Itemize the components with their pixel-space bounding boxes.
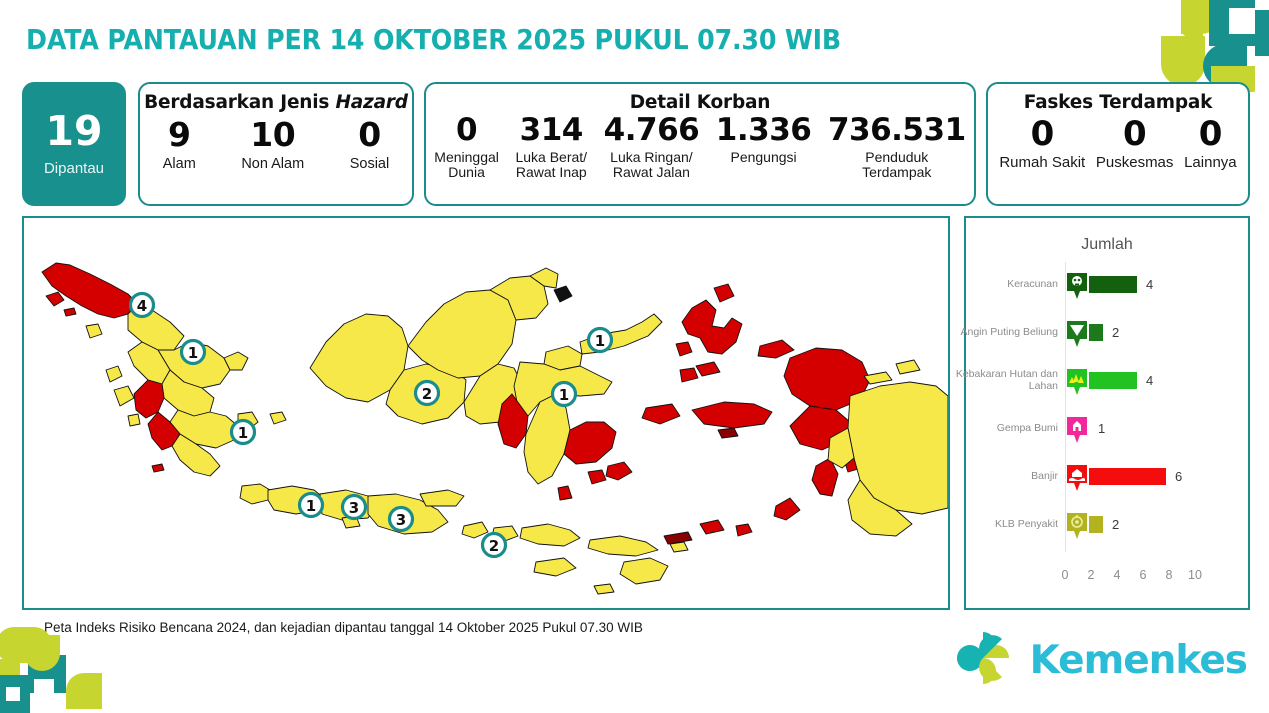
indonesia-map-panel[interactable]: 4 1 1 2 1 bbox=[22, 216, 950, 610]
metric-value: 0 bbox=[999, 115, 1085, 153]
bar-group: 4 bbox=[1065, 368, 1153, 392]
victim-metrics: 0 Meninggal Dunia 314 Luka Berat/ Rawat … bbox=[426, 113, 974, 181]
x-tick: 2 bbox=[1088, 568, 1095, 582]
bar-category-label: Angin Puting Beliung bbox=[933, 326, 1058, 338]
indonesia-map-svg[interactable]: 4 1 1 2 1 bbox=[24, 218, 948, 608]
region-babar bbox=[736, 524, 752, 536]
region-seram bbox=[692, 402, 772, 428]
region-mentawai2 bbox=[114, 386, 134, 406]
metric-label: Non Alam bbox=[241, 156, 304, 172]
metric-meninggal-dunia: 0 Meninggal Dunia bbox=[434, 113, 499, 181]
marker-label: 4 bbox=[137, 297, 147, 315]
bar-fill bbox=[1089, 468, 1166, 485]
metric-value: 9 bbox=[163, 117, 196, 154]
monitored-count-card: 19 Dipantau bbox=[22, 82, 126, 206]
metric-value: 4.766 bbox=[604, 113, 700, 148]
bar-fill bbox=[1089, 276, 1137, 293]
x-tick: 8 bbox=[1166, 568, 1173, 582]
region-simeulue bbox=[64, 308, 76, 316]
marker-label: 2 bbox=[489, 537, 499, 555]
region-rote bbox=[594, 584, 614, 594]
region-bali bbox=[462, 522, 488, 538]
chart-bar-row[interactable]: Gempa Bumi 1 bbox=[966, 404, 1248, 452]
hazard-card-title: Berdasarkan Jenis Hazard bbox=[140, 92, 412, 113]
chart-bar-row[interactable]: KLB Penyakit 2 bbox=[966, 500, 1248, 548]
map-source-note: Peta Indeks Risiko Bencana 2024, dan kej… bbox=[44, 620, 643, 635]
metric-alam: 9 Alam bbox=[163, 117, 196, 172]
chart-bar-row[interactable]: Kebakaran Hutan dan Lahan 4 bbox=[966, 356, 1248, 404]
metric-value: 0 bbox=[350, 117, 390, 154]
decorative-corner-top-right bbox=[1159, 0, 1269, 92]
metric-non-alam: 10 Non Alam bbox=[241, 117, 304, 172]
region-tanimbar bbox=[774, 498, 800, 520]
metric-penduduk-terdampak: 736.531 Penduduk Terdampak bbox=[828, 113, 966, 181]
bar-value-label: 1 bbox=[1098, 421, 1105, 436]
metric-luka-ringan: 4.766 Luka Ringan/ Rawat Jalan bbox=[604, 113, 700, 181]
metric-label: Sosial bbox=[350, 156, 390, 172]
region-muna bbox=[588, 470, 606, 484]
hazard-metrics: 9 Alam 10 Non Alam 0 Sosial bbox=[140, 117, 412, 172]
x-tick: 6 bbox=[1140, 568, 1147, 582]
metric-value: 0 bbox=[1184, 115, 1237, 153]
region-bacan bbox=[680, 368, 698, 382]
region-sumbawa bbox=[520, 524, 580, 546]
region-belitung bbox=[270, 412, 286, 424]
region-banten bbox=[240, 484, 270, 504]
map-marker[interactable]: 2 bbox=[483, 534, 506, 557]
victim-card-title: Detail Korban bbox=[426, 92, 974, 113]
bar-category-label: Gempa Bumi bbox=[933, 422, 1058, 434]
victim-detail-card: Detail Korban 0 Meninggal Dunia 314 Luka… bbox=[424, 82, 976, 206]
metric-pengungsi: 1.336 Pengungsi bbox=[716, 113, 812, 165]
faskes-metrics: 0 Rumah Sakit 0 Puskesmas 0 Lainnya bbox=[988, 115, 1248, 172]
metric-rumah-sakit: 0 Rumah Sakit bbox=[999, 115, 1085, 172]
region-enggano bbox=[152, 464, 164, 472]
region-ternate bbox=[676, 342, 692, 356]
region-buru bbox=[642, 404, 680, 424]
x-tick: 0 bbox=[1062, 568, 1069, 582]
bar-value-label: 4 bbox=[1146, 277, 1153, 292]
metric-value: 736.531 bbox=[828, 113, 966, 148]
metric-value: 1.336 bbox=[716, 113, 812, 148]
marker-label: 3 bbox=[396, 511, 406, 529]
decorative-corner-bottom-left bbox=[0, 627, 112, 713]
region-flores bbox=[588, 536, 658, 556]
region-raja-ampat bbox=[758, 340, 794, 358]
map-marker[interactable]: 1 bbox=[553, 383, 576, 406]
region-mentawai3 bbox=[128, 414, 140, 426]
marker-label: 3 bbox=[349, 499, 359, 517]
metric-lainnya: 0 Lainnya bbox=[1184, 115, 1237, 172]
x-tick: 10 bbox=[1188, 568, 1202, 582]
metric-label: Alam bbox=[163, 156, 196, 172]
hazard-type-card: Berdasarkan Jenis Hazard 9 Alam 10 Non A… bbox=[138, 82, 414, 206]
map-marker[interactable]: 1 bbox=[589, 329, 612, 352]
chart-x-ticks: 0 2 4 6 8 10 bbox=[1065, 568, 1248, 588]
metric-label: Luka Berat/ Rawat Inap bbox=[515, 150, 587, 181]
region-kalim-east-tip bbox=[554, 286, 572, 302]
region-selayar bbox=[558, 486, 572, 500]
chart-plot-area: Keracunan 4 bbox=[966, 260, 1248, 560]
bar-fill bbox=[1089, 516, 1103, 533]
bar-fill bbox=[1089, 324, 1103, 341]
region-buton bbox=[606, 462, 632, 480]
region-bengkulu bbox=[134, 380, 164, 418]
bar-value-label: 2 bbox=[1112, 517, 1119, 532]
metric-sosial: 0 Sosial bbox=[350, 117, 390, 172]
region-sultra bbox=[564, 422, 616, 464]
hazard-title-italic: Hazard bbox=[335, 92, 407, 113]
chart-bar-row[interactable]: Keracunan 4 bbox=[966, 260, 1248, 308]
bar-category-label: Kebakaran Hutan dan Lahan bbox=[933, 368, 1058, 393]
bar-category-label: Keracunan bbox=[933, 278, 1058, 290]
marker-label: 2 bbox=[422, 385, 432, 403]
metric-label: Penduduk Terdampak bbox=[828, 150, 966, 181]
metric-luka-berat: 314 Luka Berat/ Rawat Inap bbox=[515, 113, 587, 181]
map-marker[interactable]: 3 bbox=[343, 496, 366, 519]
region-timor bbox=[620, 558, 668, 584]
region-sumba bbox=[534, 558, 576, 576]
region-halmahera bbox=[682, 300, 742, 354]
x-tick: 4 bbox=[1114, 568, 1121, 582]
metric-value: 314 bbox=[515, 113, 587, 148]
region-obi bbox=[696, 362, 720, 376]
metric-label: Meninggal Dunia bbox=[434, 150, 499, 181]
summary-cards-row: 19 Dipantau Berdasarkan Jenis Hazard 9 A… bbox=[22, 82, 1250, 206]
bar-group: 2 bbox=[1065, 512, 1119, 536]
region-mentawai1 bbox=[106, 366, 122, 382]
hazard-title-plain: Berdasarkan Jenis bbox=[144, 92, 335, 113]
poison-skull-icon bbox=[1065, 272, 1089, 296]
tornado-icon bbox=[1065, 320, 1089, 344]
metric-value: 10 bbox=[241, 117, 304, 154]
region-yapen bbox=[864, 372, 892, 384]
marker-label: 1 bbox=[238, 424, 248, 442]
marker-label: 1 bbox=[559, 386, 569, 404]
metric-label: Lainnya bbox=[1184, 155, 1237, 172]
earthquake-building-icon bbox=[1065, 416, 1089, 440]
bar-group: 6 bbox=[1065, 464, 1182, 488]
map-marker[interactable]: 1 bbox=[300, 494, 323, 517]
chart-bar-row[interactable]: Angin Puting Beliung 2 bbox=[966, 308, 1248, 356]
marker-label: 1 bbox=[188, 344, 198, 362]
bar-group: 1 bbox=[1065, 416, 1105, 440]
faskes-card-title: Faskes Terdampak bbox=[988, 92, 1248, 113]
metric-label: Pengungsi bbox=[716, 150, 812, 166]
monitored-label: Dipantau bbox=[44, 160, 104, 177]
bar-group: 4 bbox=[1065, 272, 1153, 296]
region-ambon bbox=[718, 428, 738, 438]
region-nias2 bbox=[86, 324, 102, 338]
metric-label: Rumah Sakit bbox=[999, 155, 1085, 172]
metric-value: 0 bbox=[434, 113, 499, 148]
bar-value-label: 4 bbox=[1146, 373, 1153, 388]
monitored-value: 19 bbox=[45, 111, 102, 152]
map-marker[interactable]: 3 bbox=[390, 508, 413, 531]
bar-category-label: KLB Penyakit bbox=[933, 518, 1058, 530]
forest-fire-icon bbox=[1065, 368, 1089, 392]
metric-label: Puskesmas bbox=[1096, 155, 1174, 172]
chart-bar-row[interactable]: Banjir 6 bbox=[966, 452, 1248, 500]
region-madura bbox=[420, 490, 464, 506]
bar-category-label: Banjir bbox=[933, 470, 1058, 482]
bar-value-label: 2 bbox=[1112, 325, 1119, 340]
metric-puskesmas: 0 Puskesmas bbox=[1096, 115, 1174, 172]
bar-fill bbox=[1089, 372, 1137, 389]
marker-label: 1 bbox=[595, 332, 605, 350]
brand-name: Kemenkes bbox=[1030, 638, 1247, 683]
region-aceh bbox=[42, 263, 138, 318]
region-nias bbox=[46, 292, 64, 306]
map-marker[interactable]: 1 bbox=[232, 421, 255, 444]
bar-value-label: 6 bbox=[1175, 469, 1182, 484]
map-marker[interactable]: 1 bbox=[182, 341, 205, 364]
page-title: DATA PANTAUAN PER 14 OKTOBER 2025 PUKUL … bbox=[26, 24, 841, 56]
region-moa bbox=[664, 532, 692, 544]
hazard-count-chart-panel: Jumlah Keracunan bbox=[964, 216, 1250, 610]
region-morotai bbox=[714, 284, 734, 302]
chart-x-axis: 0 2 4 6 8 10 bbox=[966, 568, 1248, 588]
marker-label: 1 bbox=[306, 497, 316, 515]
chart-title: Jumlah bbox=[966, 236, 1248, 254]
dashboard-page: DATA PANTAUAN PER 14 OKTOBER 2025 PUKUL … bbox=[0, 0, 1269, 713]
region-wetar bbox=[700, 520, 724, 534]
flood-house-icon bbox=[1065, 464, 1089, 488]
metric-value: 0 bbox=[1096, 115, 1174, 153]
affected-health-facilities-card: Faskes Terdampak 0 Rumah Sakit 0 Puskesm… bbox=[986, 82, 1250, 206]
metric-label: Luka Ringan/ Rawat Jalan bbox=[604, 150, 700, 181]
disease-outbreak-icon bbox=[1065, 512, 1089, 536]
map-marker[interactable]: 2 bbox=[416, 382, 439, 405]
map-marker[interactable]: 4 bbox=[131, 294, 154, 317]
kemenkes-brand: Kemenkes bbox=[950, 626, 1247, 695]
kemenkes-logo-icon bbox=[950, 626, 1016, 695]
region-biak bbox=[896, 360, 920, 374]
bar-group: 2 bbox=[1065, 320, 1119, 344]
